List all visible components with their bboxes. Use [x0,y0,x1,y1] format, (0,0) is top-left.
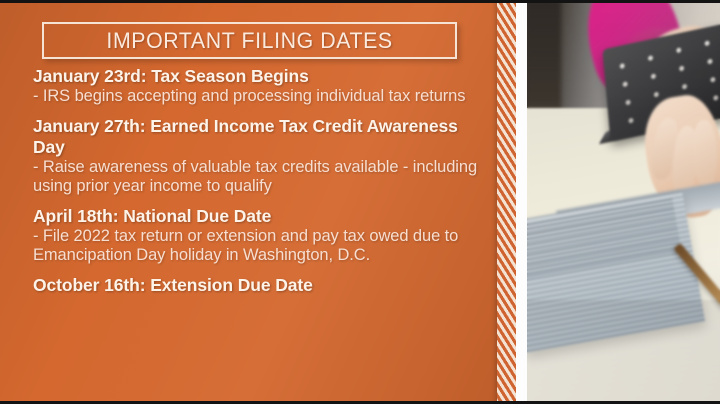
list-item: April 18th: National Due Date - File 202… [33,206,493,266]
title-box: IMPORTANT FILING DATES [42,22,457,59]
white-gap-divider [516,0,527,404]
dates-list: January 23rd: Tax Season Begins - IRS be… [33,66,493,296]
date-heading: April 18th: National Due Date [33,206,493,227]
list-item: January 27th: Earned Income Tax Credit A… [33,116,493,197]
date-heading: October 16th: Extension Due Date [33,275,493,296]
top-letterbox-bar [0,0,720,3]
broadcast-graphic-slide: IMPORTANT FILING DATES January 23rd: Tax… [0,0,720,404]
calculator-tax-form-photo [527,0,720,404]
date-detail: - File 2022 tax return or extension and … [33,227,493,266]
date-detail: - Raise awareness of valuable tax credit… [33,158,493,197]
list-item: October 16th: Extension Due Date [33,275,493,296]
list-item: January 23rd: Tax Season Begins - IRS be… [33,66,493,107]
date-detail: - IRS begins accepting and processing in… [33,87,493,107]
date-heading: January 23rd: Tax Season Begins [33,66,493,87]
diagonal-hatch-divider [497,0,516,404]
date-heading: January 27th: Earned Income Tax Credit A… [33,116,493,158]
page-title: IMPORTANT FILING DATES [106,28,392,54]
